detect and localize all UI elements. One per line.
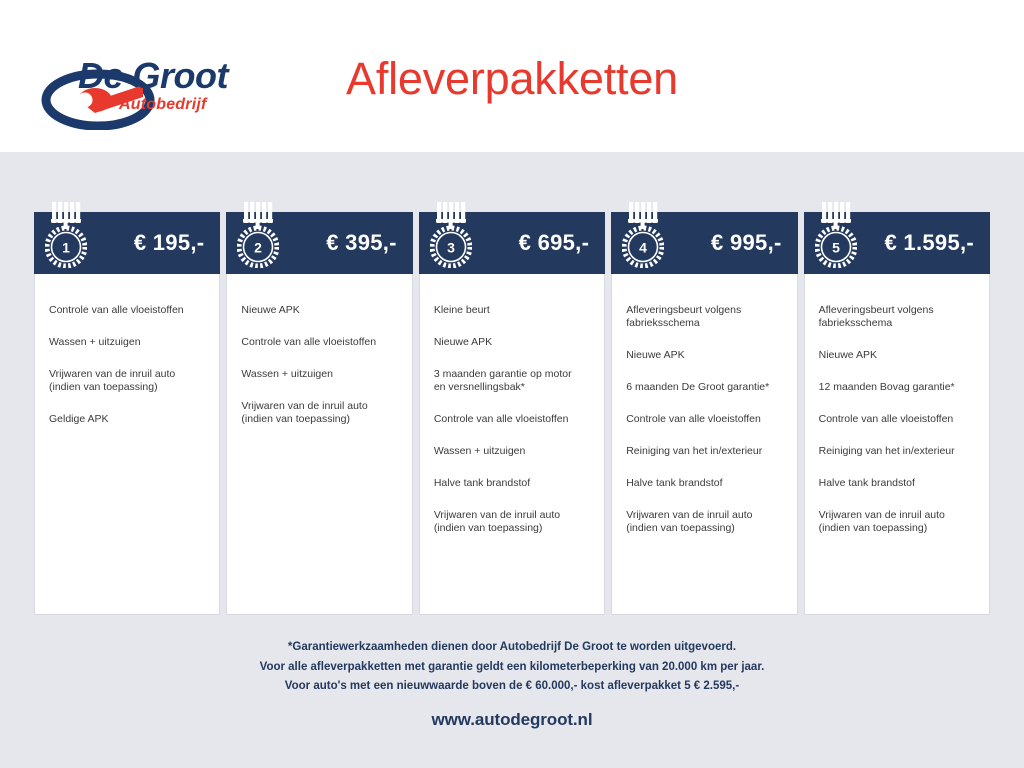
footer-notes: *Garantiewerkzaamheden dienen door Autob… xyxy=(0,638,1024,697)
page-title: Afleverpakketten xyxy=(0,53,1024,105)
package-feature-item: Halve tank brandstof xyxy=(434,477,590,490)
package-feature-item: Wassen + uitzuigen xyxy=(241,368,397,381)
package-feature-item: Vrijwaren van de inruil auto (indien van… xyxy=(434,509,590,535)
package-feature-item: Vrijwaren van de inruil auto (indien van… xyxy=(626,509,782,535)
package-feature-item: Reiniging van het in/exterieur xyxy=(626,445,782,458)
package-feature-item: Kleine beurt xyxy=(434,304,590,317)
package-card-header: 3 € 695,- xyxy=(419,212,605,274)
package-feature-item: Nieuwe APK xyxy=(626,349,782,362)
medal-icon: 2 xyxy=(237,202,279,268)
medal-icon: 4 xyxy=(622,202,664,268)
package-card-2[interactable]: 2 € 395,-Nieuwe APKControle van alle vlo… xyxy=(226,212,412,615)
svg-text:2: 2 xyxy=(255,240,263,256)
package-feature-list: Afleveringsbeurt volgens fabrieksschemaN… xyxy=(805,274,989,614)
package-feature-item: Nieuwe APK xyxy=(819,349,975,362)
package-feature-item: Reiniging van het in/exterieur xyxy=(819,445,975,458)
footnote-line: Voor alle afleverpakketten met garantie … xyxy=(0,658,1024,678)
package-feature-item: Controle van alle vloeistoffen xyxy=(434,413,590,426)
package-cards-row: 1 € 195,-Controle van alle vloeistoffenW… xyxy=(34,212,990,615)
package-card-header: 1 € 195,- xyxy=(34,212,220,274)
medal-icon: 1 xyxy=(45,202,87,268)
package-feature-item: Geldige APK xyxy=(49,413,205,426)
package-feature-item: Halve tank brandstof xyxy=(819,477,975,490)
package-feature-item: Vrijwaren van de inruil auto (indien van… xyxy=(241,400,397,426)
package-price: € 1.595,- xyxy=(884,230,974,256)
package-price: € 995,- xyxy=(711,230,782,256)
package-card-header: 4 € 995,- xyxy=(611,212,797,274)
package-feature-list: Kleine beurtNieuwe APK3 maanden garantie… xyxy=(420,274,604,614)
package-feature-list: Nieuwe APKControle van alle vloeistoffen… xyxy=(227,274,411,614)
package-feature-item: Nieuwe APK xyxy=(241,304,397,317)
package-card-5[interactable]: 5 € 1.595,-Afleveringsbeurt volgens fabr… xyxy=(804,212,990,615)
medal-icon: 5 xyxy=(815,202,857,268)
package-feature-list: Afleveringsbeurt volgens fabrieksschemaN… xyxy=(612,274,796,614)
page-header-band: De Groot Autobedrijf Afleverpakketten xyxy=(0,0,1024,152)
medal-icon: 3 xyxy=(430,202,472,268)
package-feature-item: Vrijwaren van de inruil auto (indien van… xyxy=(49,368,205,394)
svg-text:1: 1 xyxy=(62,240,70,256)
package-price: € 695,- xyxy=(519,230,590,256)
package-feature-item: Controle van alle vloeistoffen xyxy=(626,413,782,426)
package-price: € 195,- xyxy=(134,230,205,256)
footnote-line: *Garantiewerkzaamheden dienen door Autob… xyxy=(0,638,1024,658)
package-feature-item: 3 maanden garantie op motor en versnelli… xyxy=(434,368,590,394)
footnote-line: Voor auto's met een nieuwwaarde boven de… xyxy=(0,677,1024,697)
svg-text:5: 5 xyxy=(832,240,840,256)
package-feature-item: Controle van alle vloeistoffen xyxy=(49,304,205,317)
package-feature-item: Controle van alle vloeistoffen xyxy=(241,336,397,349)
package-feature-item: 12 maanden Bovag garantie* xyxy=(819,381,975,394)
package-card-1[interactable]: 1 € 195,-Controle van alle vloeistoffenW… xyxy=(34,212,220,615)
package-feature-item: Afleveringsbeurt volgens fabrieksschema xyxy=(819,304,975,330)
package-card-header: 5 € 1.595,- xyxy=(804,212,990,274)
package-feature-item: Controle van alle vloeistoffen xyxy=(819,413,975,426)
package-feature-item: Wassen + uitzuigen xyxy=(434,445,590,458)
svg-text:3: 3 xyxy=(447,240,455,256)
package-feature-item: Afleveringsbeurt volgens fabrieksschema xyxy=(626,304,782,330)
package-price: € 395,- xyxy=(326,230,397,256)
package-card-header: 2 € 395,- xyxy=(226,212,412,274)
package-card-4[interactable]: 4 € 995,-Afleveringsbeurt volgens fabrie… xyxy=(611,212,797,615)
package-feature-item: Nieuwe APK xyxy=(434,336,590,349)
package-feature-item: Wassen + uitzuigen xyxy=(49,336,205,349)
package-feature-item: Vrijwaren van de inruil auto (indien van… xyxy=(819,509,975,535)
package-feature-item: 6 maanden De Groot garantie* xyxy=(626,381,782,394)
package-feature-item: Halve tank brandstof xyxy=(626,477,782,490)
svg-text:4: 4 xyxy=(639,240,647,256)
package-card-3[interactable]: 3 € 695,-Kleine beurtNieuwe APK3 maanden… xyxy=(419,212,605,615)
package-feature-list: Controle van alle vloeistoffenWassen + u… xyxy=(35,274,219,614)
website-link[interactable]: www.autodegroot.nl xyxy=(0,710,1024,730)
